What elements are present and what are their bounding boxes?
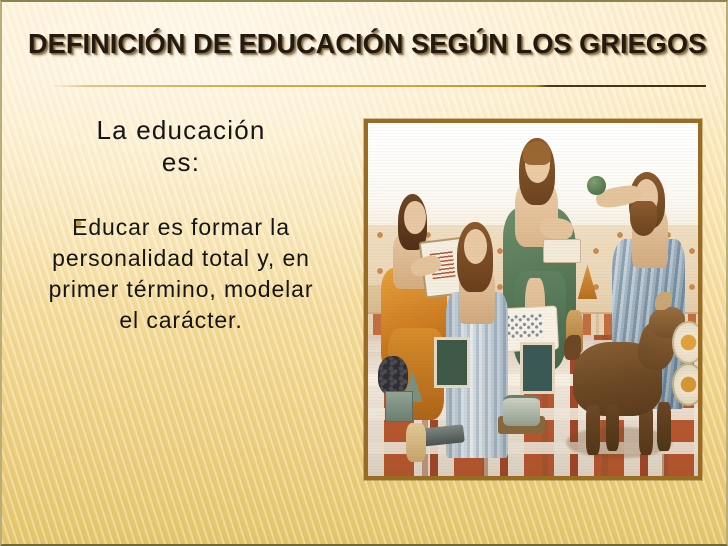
slide-title-bar: DEFINICIÓN DE EDUCACIÓN SEGÚN LOS GRIEGO… [2,20,728,76]
greek-classroom-illustration [368,123,698,476]
bullet-dot-icon [76,221,81,226]
illustration-grain [368,123,698,476]
slide-canvas: DEFINICIÓN DE EDUCACIÓN SEGÚN LOS GRIEGO… [0,0,728,546]
content-heading-line-2: es: [26,146,336,178]
content-heading-line-1: La educación [26,114,336,146]
title-divider-rule [50,85,706,87]
bullet-text: Educar es formar la personalidad total y… [49,214,314,333]
slide-title: DEFINICIÓN DE EDUCACIÓN SEGÚN LOS GRIEGO… [28,20,708,68]
bullet-list-item: Educar es formar la personalidad total y… [26,212,336,336]
illustration-frame [364,119,702,480]
content-text-column: La educación es: Educar es formar la per… [26,114,336,336]
